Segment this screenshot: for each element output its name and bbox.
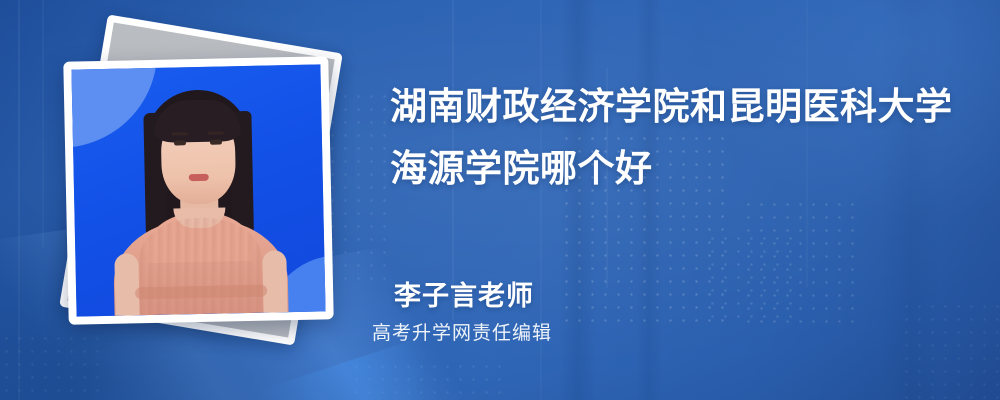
- photo-card-stack: [46, 32, 346, 362]
- arm-left: [114, 253, 139, 315]
- author-portrait: [98, 80, 299, 316]
- article-title: 湖南财政经济学院和昆明医科大学海源学院哪个好: [390, 76, 960, 200]
- arm-right: [262, 250, 287, 312]
- eye-left: [173, 140, 185, 145]
- banner-text-column: 湖南财政经济学院和昆明医科大学海源学院哪个好 李子言老师 高考升学网责任编辑: [390, 0, 980, 400]
- mouth: [188, 174, 208, 181]
- author-name: 李子言老师: [394, 274, 534, 313]
- eyebrow-left: [171, 132, 187, 135]
- author-role: 高考升学网责任编辑: [372, 318, 552, 345]
- eye-right: [209, 140, 221, 145]
- eyebrow-right: [207, 131, 223, 134]
- dress-fold-texture: [138, 217, 262, 316]
- article-header-banner: 湖南财政经济学院和昆明医科大学海源学院哪个好 李子言老师 高考升学网责任编辑: [0, 0, 1000, 400]
- author-photo-card: [63, 56, 333, 324]
- hair-fringe: [154, 99, 241, 143]
